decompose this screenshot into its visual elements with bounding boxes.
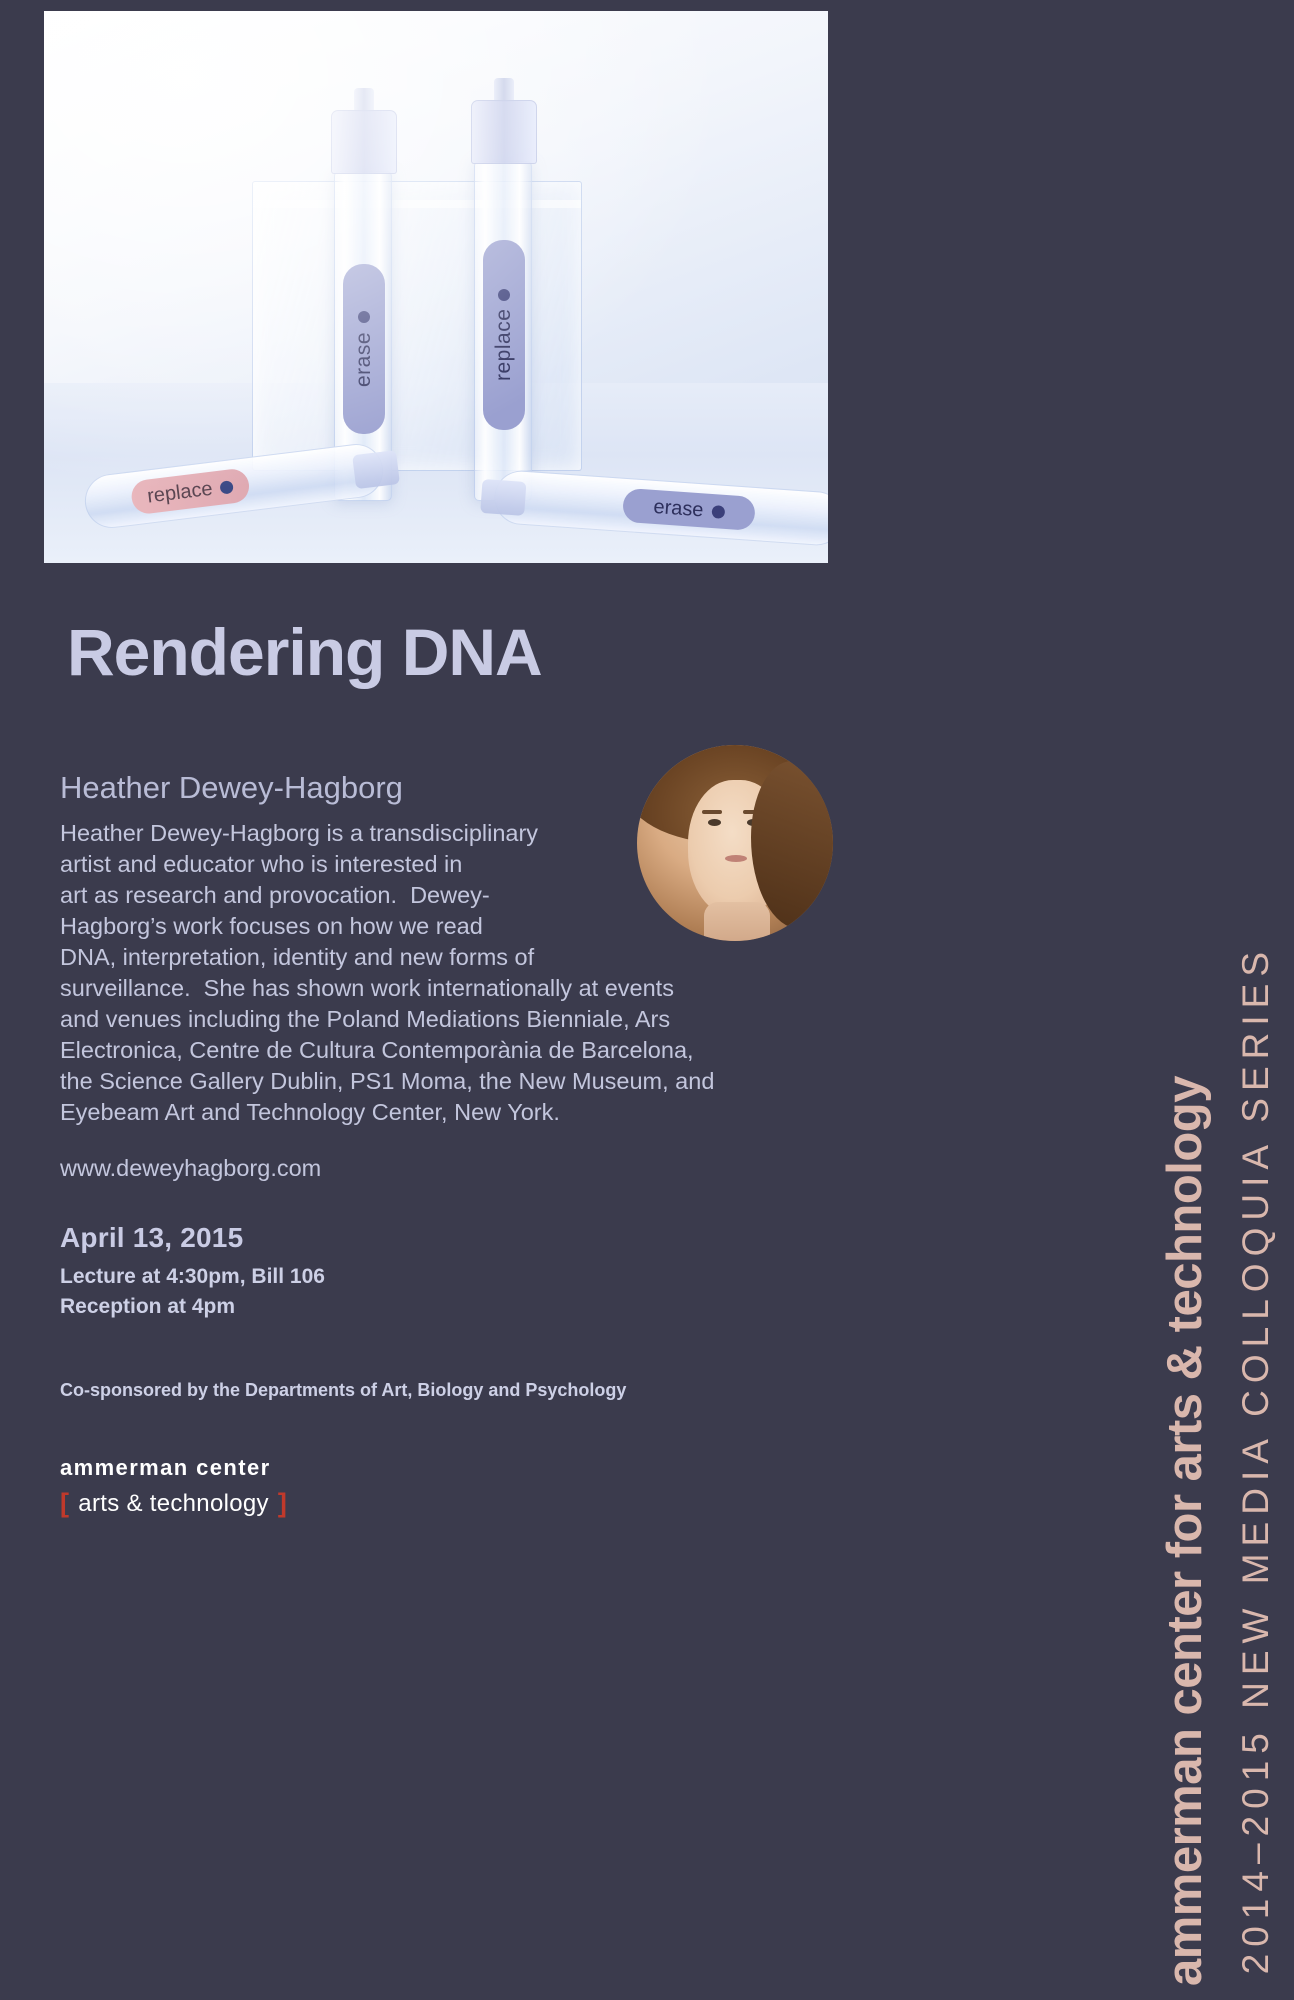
vial-tip <box>352 450 400 489</box>
speaker-name: Heather Dewey-Hagborg <box>60 770 403 806</box>
vial-label-dot-icon <box>498 289 510 301</box>
bio-line: Eyebeam Art and Technology Center, New Y… <box>60 1097 816 1128</box>
hero-photo-scene: erase replace replace <box>44 11 828 563</box>
event-date: April 13, 2015 <box>60 1222 325 1254</box>
bio-line: and venues including the Poland Mediatio… <box>60 1004 816 1035</box>
content-column: erase replace replace <box>0 0 866 2000</box>
vertical-series-title: 2014–2015 NEW MEDIA COLLOQUIA SERIES <box>1237 945 1274 1974</box>
event-lecture: Lecture at 4:30pm, Bill 106 <box>60 1262 325 1292</box>
cosponsor-note: Co-sponsored by the Departments of Art, … <box>60 1380 626 1401</box>
bio-line: DNA, interpretation, identity and new fo… <box>60 942 816 973</box>
poster-root: erase replace replace <box>0 0 1294 2000</box>
vial-lying-right-label: erase <box>622 488 756 531</box>
vial-label-dot-icon <box>711 504 725 518</box>
vial-lying-right-text: erase <box>653 495 705 521</box>
portrait-brow-left <box>702 810 722 814</box>
ammerman-center-logo: ammerman center [ arts & technology ] <box>60 1455 287 1519</box>
website-link[interactable]: www.deweyhagborg.com <box>60 1155 321 1182</box>
bracket-right-icon: ] <box>278 1488 287 1519</box>
vial-label-dot-icon <box>220 480 234 494</box>
event-details: April 13, 2015 Lecture at 4:30pm, Bill 1… <box>60 1222 325 1322</box>
vial-cap <box>471 100 537 164</box>
logo-line-1: ammerman center <box>60 1455 287 1481</box>
vial-nozzle-icon <box>354 88 374 112</box>
acrylic-stand <box>252 181 582 471</box>
bio-line: surveillance. She has shown work interna… <box>60 973 816 1004</box>
vial-label-erase-text: erase <box>352 331 376 386</box>
vertical-center-name: ammerman center for arts & technology <box>1161 1076 1210 1986</box>
vial-label-dot-icon <box>358 311 370 323</box>
portrait-neck <box>704 902 771 941</box>
vial-tip <box>480 479 526 516</box>
speaker-portrait-avatar <box>637 745 833 941</box>
logo-line-2-text: arts & technology <box>78 1490 269 1518</box>
vial-label-replace: replace <box>483 240 525 430</box>
portrait-mouth <box>725 855 747 862</box>
bracket-left-icon: [ <box>60 1488 69 1519</box>
vial-label-replace-text: replace <box>492 309 516 381</box>
vial-label-erase: erase <box>343 264 385 434</box>
logo-line-2: [ arts & technology ] <box>60 1488 287 1519</box>
bio-line: Electronica, Centre de Cultura Contempor… <box>60 1035 816 1066</box>
page-title: Rendering DNA <box>67 614 542 690</box>
vial-cap <box>331 110 397 174</box>
vial-nozzle-icon <box>494 78 514 102</box>
event-reception: Reception at 4pm <box>60 1292 325 1322</box>
vial-lying-left-label: replace <box>130 467 251 515</box>
vial-replace: replace <box>474 161 532 501</box>
bio-line: the Science Gallery Dublin, PS1 Moma, th… <box>60 1066 816 1097</box>
vial-lying-left-text: replace <box>146 477 214 508</box>
hero-photo: erase replace replace <box>44 11 828 563</box>
